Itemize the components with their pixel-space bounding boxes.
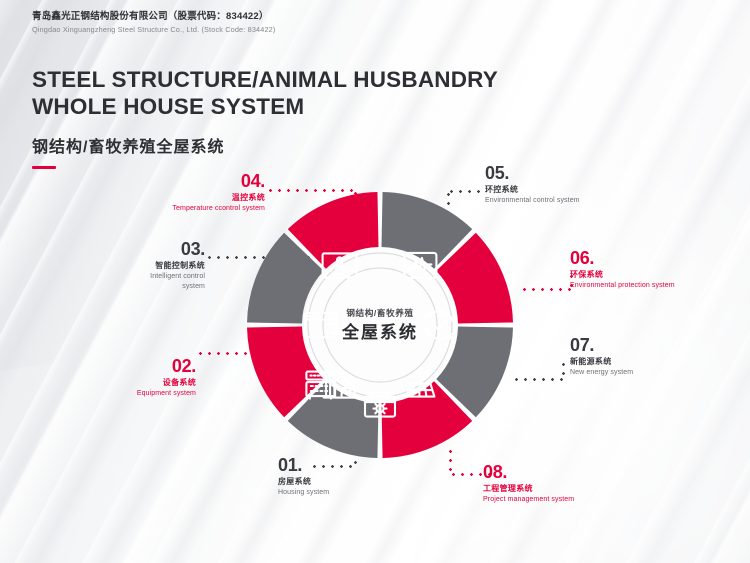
page-title: STEEL STRUCTURE/ANIMAL HUSBANDRY WHOLE H… bbox=[32, 66, 498, 169]
callout-06-number: 06. bbox=[570, 249, 675, 267]
callout-02-title-cn: 设备系统 bbox=[96, 377, 196, 388]
callout-07-number: 07. bbox=[570, 336, 633, 354]
callout-07-title-en: New energy system bbox=[570, 368, 633, 378]
callout-06[interactable]: 06. 环保系统 Environmental protection system bbox=[570, 249, 675, 291]
callout-06-title-en: Environmental protection system bbox=[570, 281, 675, 291]
connector-06-horizontal bbox=[520, 288, 572, 291]
callout-03-title-cn: 智能控制系统 bbox=[105, 260, 205, 271]
connector-07-vertical bbox=[562, 360, 565, 380]
callout-02-title-en: Equipment system bbox=[96, 389, 196, 399]
callout-08-title-en: Project management system bbox=[483, 495, 574, 505]
callout-03-number: 03. bbox=[105, 240, 205, 258]
title-line-1: STEEL STRUCTURE/ANIMAL HUSBANDRY bbox=[32, 66, 498, 93]
company-name-en: Qingdao Xinguangzheng Steel Structure Co… bbox=[32, 24, 275, 35]
callout-01-title-cn: 房屋系统 bbox=[278, 476, 329, 487]
callout-03[interactable]: 03. 智能控制系统 Intelligent control system bbox=[105, 240, 205, 291]
callout-07-title-cn: 新能源系统 bbox=[570, 356, 633, 367]
company-header: 青岛鑫光正钢结构股份有限公司（股票代码：834422） Qingdao Xing… bbox=[32, 10, 275, 35]
title-underline-rule bbox=[32, 166, 56, 169]
callout-02[interactable]: 02. 设备系统 Equipment system bbox=[96, 357, 196, 399]
callout-08-title-cn: 工程管理系统 bbox=[483, 483, 574, 494]
title-line-2: WHOLE HOUSE SYSTEM bbox=[32, 93, 498, 120]
callout-05-number: 05. bbox=[485, 164, 580, 182]
callout-08-number: 08. bbox=[483, 463, 574, 481]
title-chinese: 钢结构/畜牧养殖全屋系统 bbox=[32, 133, 498, 157]
callout-01-title-en: Housing system bbox=[278, 488, 329, 498]
callout-02-number: 02. bbox=[96, 357, 196, 375]
callout-07[interactable]: 07. 新能源系统 New energy system bbox=[570, 336, 633, 378]
callout-03-title-en: Intelligent control system bbox=[131, 272, 205, 291]
system-wheel-diagram: 钢结构/畜牧养殖 全屋系统 bbox=[240, 185, 520, 465]
callout-08[interactable]: 08. 工程管理系统 Project management system bbox=[483, 463, 574, 505]
company-name-cn: 青岛鑫光正钢结构股份有限公司（股票代码：834422） bbox=[32, 10, 275, 23]
callout-06-title-cn: 环保系统 bbox=[570, 269, 675, 280]
infographic-page: 青岛鑫光正钢结构股份有限公司（股票代码：834422） Qingdao Xing… bbox=[0, 0, 750, 563]
